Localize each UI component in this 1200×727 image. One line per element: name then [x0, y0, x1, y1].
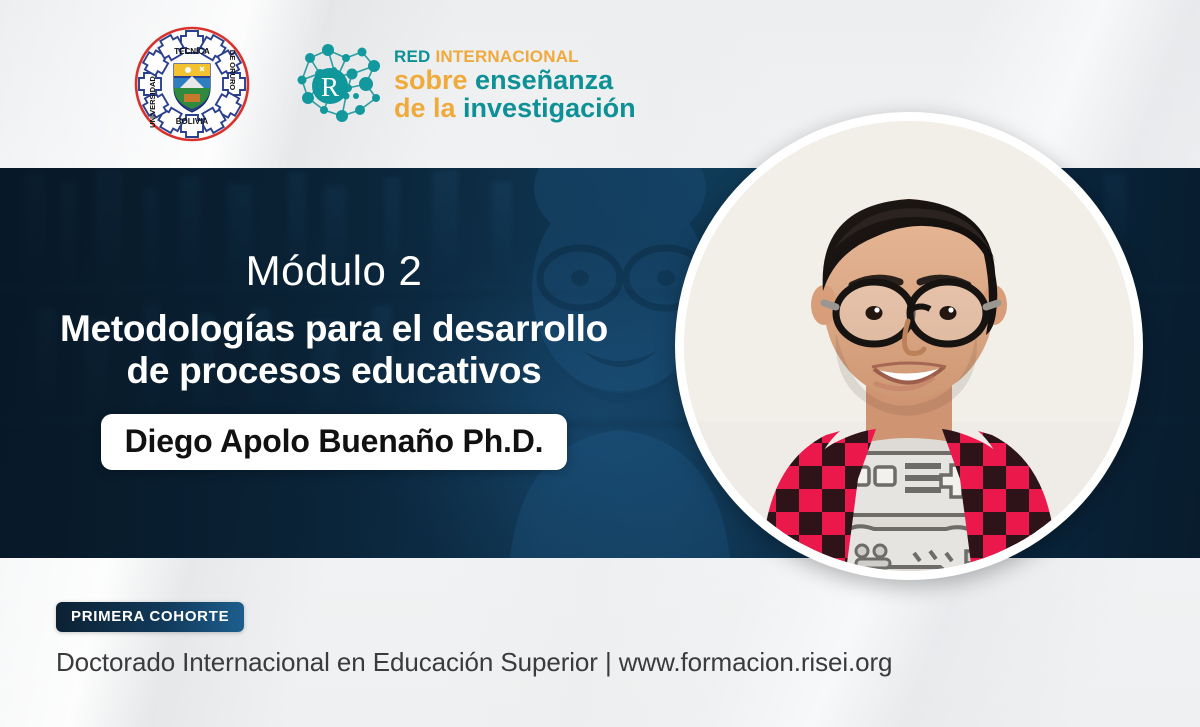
risei-red-word: RED — [394, 47, 431, 66]
risei-mark-letter: R — [321, 72, 339, 102]
seal-text-bottom: BOLIVIA — [176, 117, 209, 126]
title-line-1: Metodologías para el desarrollo — [60, 308, 608, 350]
university-seal-icon: TECNICA BOLIVIA UNIVERSIDAD DE ORURO — [128, 24, 256, 144]
promo-poster: TECNICA BOLIVIA UNIVERSIDAD DE ORURO — [0, 0, 1200, 727]
status-badge: PRIMERA COHORTE — [71, 609, 229, 624]
speaker-name: Diego Apolo Buenaño Ph.D. — [125, 425, 544, 457]
risei-line-3: de la investigación — [394, 95, 636, 122]
risei-dela-word: de la — [394, 93, 456, 123]
footer-tagline: Doctorado Internacional en Educación Sup… — [56, 649, 1200, 675]
module-label: Módulo 2 — [246, 250, 423, 292]
page-title: Metodologías para el desarrollo de proce… — [60, 308, 608, 392]
hero-copy: Módulo 2 Metodologías para el desarrollo… — [0, 168, 668, 558]
risei-line-2: sobre enseñanza — [394, 67, 636, 94]
avatar — [684, 121, 1134, 571]
speaker-name-box: Diego Apolo Buenaño Ph.D. — [101, 414, 568, 470]
risei-wordmark: RED INTERNACIONAL sobre enseñanza de la … — [394, 46, 636, 122]
title-line-2: de procesos educativos — [60, 350, 608, 392]
risei-ensenanza-word: enseñanza — [475, 65, 613, 95]
risei-internacional-word: INTERNACIONAL — [435, 47, 578, 66]
risei-line-1: RED INTERNACIONAL — [394, 48, 636, 65]
network-graph-icon: R — [290, 36, 386, 132]
footer-bar: PRIMERA COHORTE Doctorado Internacional … — [0, 558, 1200, 727]
risei-logo: R RED INTERNACIONAL sobre enseñanza de l… — [290, 36, 636, 132]
seal-text-top: TECNICA — [174, 47, 210, 56]
risei-investigacion-word: investigación — [463, 93, 636, 123]
seal-text-right: DE ORURO — [228, 50, 237, 91]
cohort-badge: PRIMERA COHORTE — [56, 602, 244, 632]
seal-text-left: UNIVERSIDAD — [148, 76, 157, 128]
risei-sobre-word: sobre — [394, 65, 468, 95]
speaker-portrait — [675, 112, 1143, 580]
